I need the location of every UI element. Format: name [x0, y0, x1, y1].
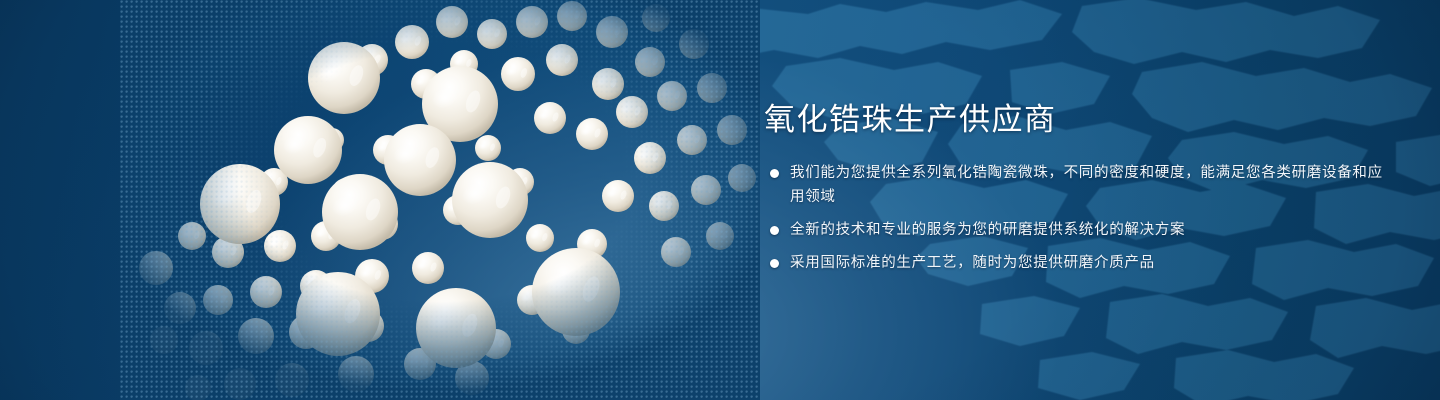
list-item: 采用国际标准的生产工艺，随时为您提供研磨介质产品 [764, 251, 1384, 275]
page-title: 氧化锆珠生产供应商 [764, 104, 1384, 135]
bullet-dot-icon [770, 259, 779, 268]
bullet-dot-icon [770, 169, 779, 178]
feature-list: 我们能为您提供全系列氧化锆陶瓷微珠，不同的密度和硬度，能满足您各类研磨设备和应用… [764, 161, 1384, 275]
banner-copy: 氧化锆珠生产供应商 我们能为您提供全系列氧化锆陶瓷微珠，不同的密度和硬度，能满足… [764, 104, 1384, 275]
hero-banner: 氧化锆珠生产供应商 我们能为您提供全系列氧化锆陶瓷微珠，不同的密度和硬度，能满足… [0, 0, 1440, 400]
list-item: 我们能为您提供全系列氧化锆陶瓷微珠，不同的密度和硬度，能满足您各类研磨设备和应用… [764, 161, 1384, 209]
list-item-label: 我们能为您提供全系列氧化锆陶瓷微珠，不同的密度和硬度，能满足您各类研磨设备和应用… [790, 161, 1384, 209]
list-item-label: 采用国际标准的生产工艺，随时为您提供研磨介质产品 [790, 251, 1384, 275]
list-item-label: 全新的技术和专业的服务为您的研磨提供系统化的解决方案 [790, 218, 1384, 242]
list-item: 全新的技术和专业的服务为您的研磨提供系统化的解决方案 [764, 218, 1384, 242]
bullet-dot-icon [770, 226, 779, 235]
zirconia-beads-image [120, 0, 760, 400]
